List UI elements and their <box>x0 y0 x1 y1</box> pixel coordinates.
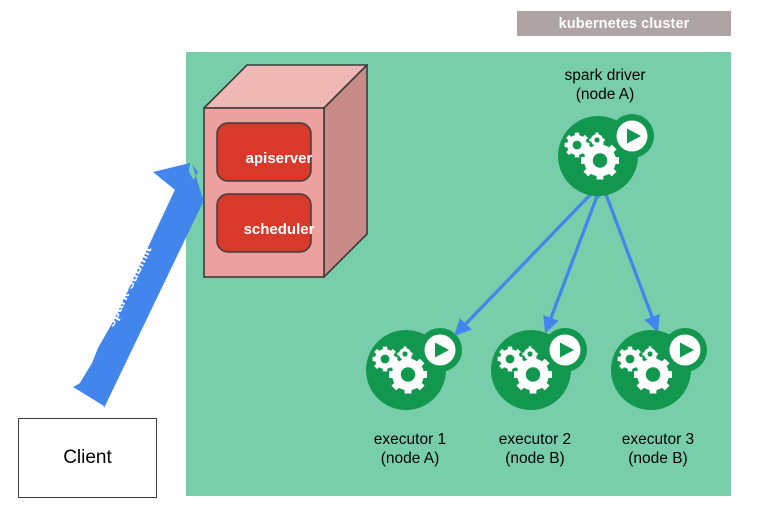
executor-1-caption-line1: executor 1 <box>345 430 475 449</box>
spark-driver-caption-line1: spark driver <box>540 66 670 85</box>
client-box: Client <box>18 418 157 498</box>
executor-1-caption-line2: (node A) <box>345 449 475 468</box>
spark-driver-icon <box>550 112 654 196</box>
executor-3-caption: executor 3 (node B) <box>593 430 723 468</box>
kubernetes-cluster-banner-label: kubernetes cluster <box>559 16 690 32</box>
executor-2-icon <box>483 326 587 410</box>
executor-1-icon <box>358 326 462 410</box>
executor-2-caption-line1: executor 2 <box>470 430 600 449</box>
spark-driver-caption: spark driver (node A) <box>540 66 670 104</box>
executor-2-caption: executor 2 (node B) <box>470 430 600 468</box>
scheduler-label: scheduler <box>219 221 339 238</box>
executor-3-icon <box>603 326 707 410</box>
diagram-canvas: kubernetes cluster apiserver scheduler s… <box>0 0 761 516</box>
control-plane-box <box>203 64 368 278</box>
executor-2-caption-line2: (node B) <box>470 449 600 468</box>
executor-3-caption-line1: executor 3 <box>593 430 723 449</box>
executor-3-caption-line2: (node B) <box>593 449 723 468</box>
apiserver-label: apiserver <box>219 150 339 167</box>
executor-1-caption: executor 1 (node A) <box>345 430 475 468</box>
kubernetes-cluster-banner: kubernetes cluster <box>517 11 731 36</box>
client-label: Client <box>63 447 112 469</box>
spark-driver-caption-line2: (node A) <box>540 85 670 104</box>
